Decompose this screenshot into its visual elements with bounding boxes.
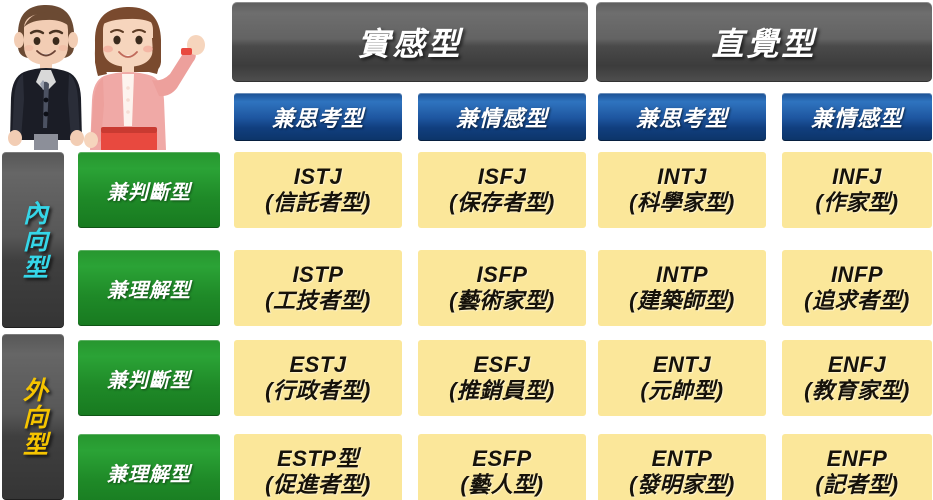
- type-code: ENTJ: [653, 352, 711, 378]
- type-code: ENFP: [827, 446, 888, 472]
- type-code: ISTP: [293, 262, 344, 288]
- subheader-intuition-thinking: 兼思考型: [598, 93, 766, 141]
- type-code: ESTP型: [277, 446, 359, 472]
- type-cell-intj[interactable]: INTJ (科學家型): [598, 152, 766, 228]
- type-name: (元帥型): [640, 378, 723, 404]
- type-name: (記者型): [815, 472, 898, 498]
- type-cell-infp[interactable]: INFP (追求者型): [782, 250, 932, 326]
- column-header-intuition: 直覺型: [596, 2, 932, 82]
- type-code: ESTJ: [289, 352, 346, 378]
- type-code: ISFP: [477, 262, 528, 288]
- type-code: ESFP: [472, 446, 531, 472]
- type-name: (作家型): [815, 190, 898, 216]
- type-code: ENTP: [652, 446, 713, 472]
- row-label-judging-extrovert: 兼判斷型: [78, 340, 220, 416]
- type-cell-esfp[interactable]: ESFP (藝人型): [418, 434, 586, 500]
- man-figure: [8, 5, 84, 150]
- type-code: INFJ: [832, 164, 882, 190]
- axis-label-extrovert-text: 外向型: [20, 377, 47, 458]
- type-name: (促進者型): [265, 472, 371, 498]
- type-name: (推銷員型): [449, 378, 555, 404]
- type-cell-istp[interactable]: ISTP (工技者型): [234, 250, 402, 326]
- type-name: (藝人型): [460, 472, 543, 498]
- type-code: ISFJ: [478, 164, 526, 190]
- row-label-text: 兼理解型: [107, 458, 191, 487]
- type-code: ISTJ: [294, 164, 342, 190]
- subheader-intuition-feeling: 兼情感型: [782, 93, 932, 141]
- row-label-perceiving-extrovert: 兼理解型: [78, 434, 220, 500]
- subheader-label: 兼思考型: [636, 101, 728, 133]
- subheader-label: 兼情感型: [456, 101, 548, 133]
- woman-figure: [84, 7, 205, 150]
- subheader-sensing-thinking: 兼思考型: [234, 93, 402, 141]
- type-code: INTJ: [657, 164, 707, 190]
- type-name: (發明家型): [629, 472, 735, 498]
- subheader-label: 兼情感型: [811, 101, 903, 133]
- type-cell-estp[interactable]: ESTP型 (促進者型): [234, 434, 402, 500]
- couple-svg: [0, 0, 228, 150]
- mbti-type-table: 實感型 直覺型 兼思考型 兼情感型 兼思考型 兼情感型 內向型 外向型 兼判斷型…: [0, 0, 933, 500]
- type-cell-enfj[interactable]: ENFJ (教育家型): [782, 340, 932, 416]
- type-cell-isfj[interactable]: ISFJ (保存者型): [418, 152, 586, 228]
- type-cell-enfp[interactable]: ENFP (記者型): [782, 434, 932, 500]
- type-cell-isfp[interactable]: ISFP (藝術家型): [418, 250, 586, 326]
- type-cell-intp[interactable]: INTP (建築師型): [598, 250, 766, 326]
- axis-label-introvert: 內向型: [2, 152, 64, 328]
- type-name: (工技者型): [265, 288, 371, 314]
- row-label-text: 兼判斷型: [107, 176, 191, 205]
- type-name: (藝術家型): [449, 288, 555, 314]
- type-cell-infj[interactable]: INFJ (作家型): [782, 152, 932, 228]
- axis-label-introvert-text: 內向型: [20, 200, 47, 281]
- column-header-intuition-label: 直覺型: [711, 19, 816, 65]
- row-label-text: 兼理解型: [107, 274, 191, 303]
- type-name: (科學家型): [629, 190, 735, 216]
- row-label-text: 兼判斷型: [107, 364, 191, 393]
- column-header-sensing: 實感型: [232, 2, 588, 82]
- type-name: (信託者型): [265, 190, 371, 216]
- column-header-sensing-label: 實感型: [357, 19, 462, 65]
- type-name: (追求者型): [804, 288, 910, 314]
- row-label-judging-introvert: 兼判斷型: [78, 152, 220, 228]
- subheader-sensing-feeling: 兼情感型: [418, 93, 586, 141]
- type-code: ENFJ: [828, 352, 886, 378]
- type-name: (行政者型): [265, 378, 371, 404]
- axis-label-extrovert: 外向型: [2, 334, 64, 500]
- type-name: (建築師型): [629, 288, 735, 314]
- type-cell-entj[interactable]: ENTJ (元帥型): [598, 340, 766, 416]
- type-name: (保存者型): [449, 190, 555, 216]
- type-cell-estj[interactable]: ESTJ (行政者型): [234, 340, 402, 416]
- type-cell-entp[interactable]: ENTP (發明家型): [598, 434, 766, 500]
- subheader-label: 兼思考型: [272, 101, 364, 133]
- business-couple-illustration: [0, 0, 228, 150]
- type-code: ESFJ: [473, 352, 530, 378]
- type-code: INFP: [831, 262, 883, 288]
- type-name: (教育家型): [804, 378, 910, 404]
- row-label-perceiving-introvert: 兼理解型: [78, 250, 220, 326]
- type-cell-esfj[interactable]: ESFJ (推銷員型): [418, 340, 586, 416]
- type-code: INTP: [656, 262, 708, 288]
- type-cell-istj[interactable]: ISTJ (信託者型): [234, 152, 402, 228]
